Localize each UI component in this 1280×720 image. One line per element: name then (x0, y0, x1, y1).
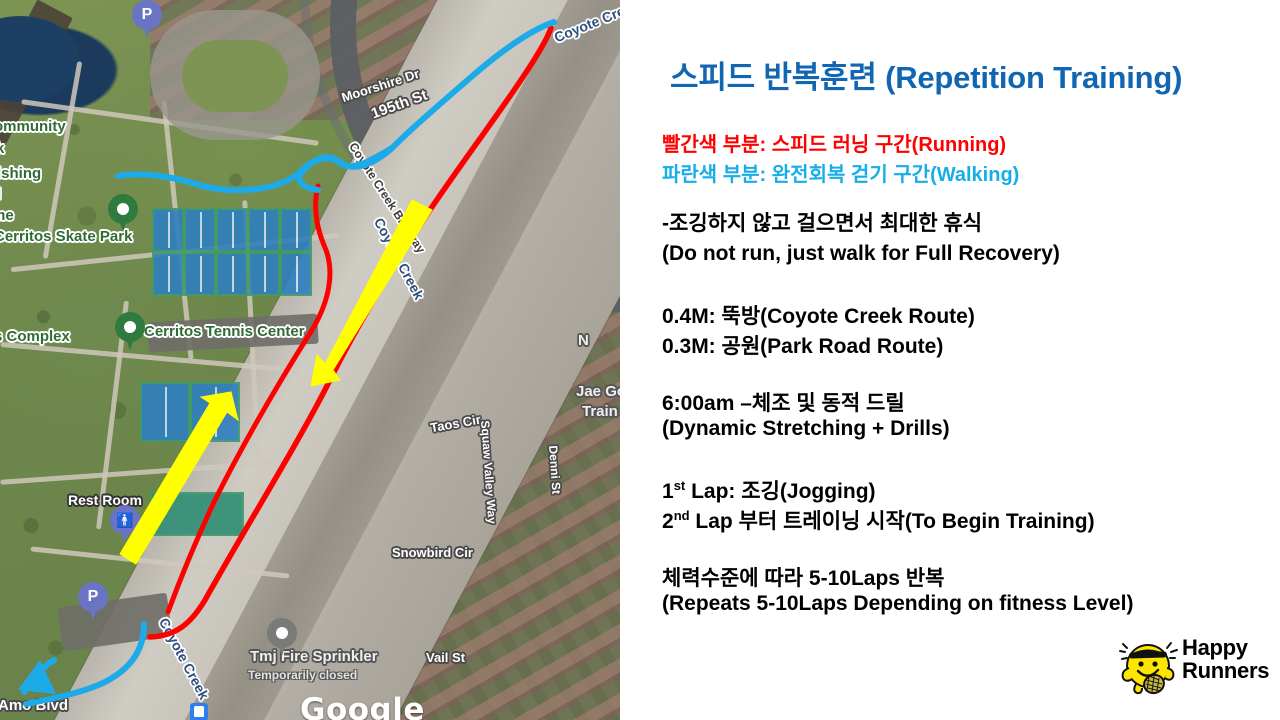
distance-creek-route: 0.4M: 뚝방(Coyote Creek Route) (662, 300, 975, 330)
happy-runners-logo: Happy Runners (1118, 636, 1268, 698)
repeats-english: (Repeats 5-10Laps Depending on fitness L… (662, 592, 1133, 616)
logo-line-1: Happy (1182, 636, 1274, 659)
lap-2: 2nd Lap 부터 트레이닝 시작(To Begin Training) (662, 505, 1095, 535)
direction-arrow-northeast (120, 392, 238, 564)
page-title: 스피드 반복훈련 (Repetition Training) (670, 52, 1270, 97)
warmup-korean: 6:00am –체조 및 동적 드릴 (662, 387, 905, 417)
legend-running: 빨간색 부분: 스피드 러닝 구간(Running) (662, 128, 1006, 157)
runner-mascot-icon (1118, 638, 1180, 696)
map-panel[interactable]: ommunity k fishing l me Cerritos Skate P… (0, 0, 620, 720)
lap-2-text: Lap 부터 트레이닝 시작(To Begin Training) (690, 510, 1095, 533)
logo-wordmark: Happy Runners (1182, 636, 1274, 682)
repeats-korean: 체력수준에 따라 5-10Laps 반복 (662, 562, 944, 592)
logo-line-2: Runners (1182, 659, 1274, 682)
lap-2-number: 2 (662, 510, 674, 533)
lap-1-number: 1 (662, 480, 674, 503)
lap-1: 1st Lap: 조깅(Jogging) (662, 475, 876, 505)
legend-walking: 파란색 부분: 완전회복 걷기 구간(Walking) (662, 158, 1019, 187)
route-overlay (0, 0, 620, 720)
lap-1-ordinal: st (674, 478, 686, 493)
text-panel: 스피드 반복훈련 (Repetition Training) 빨간색 부분: 스… (620, 0, 1280, 720)
note-rest-korean: -조깅하지 않고 걸으면서 최대한 휴식 (662, 207, 982, 237)
note-rest-english: (Do not run, just walk for Full Recovery… (662, 242, 1060, 266)
running-route-red-branch (168, 186, 330, 612)
slide-root: ommunity k fishing l me Cerritos Skate P… (0, 0, 1280, 720)
distance-park-route: 0.3M: 공원(Park Road Route) (662, 330, 943, 360)
warmup-english: (Dynamic Stretching + Drills) (662, 417, 950, 441)
lap-1-text: Lap: 조깅(Jogging) (685, 480, 875, 503)
lap-2-ordinal: nd (674, 508, 690, 523)
